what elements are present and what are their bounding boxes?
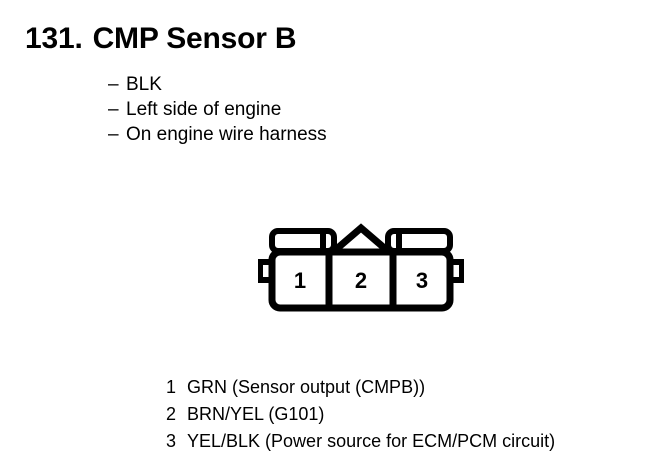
legend-row: 2 BRN/YEL (G101) — [166, 401, 555, 428]
description-list: – BLK – Left side of engine – On engine … — [108, 72, 327, 147]
list-item: – Left side of engine — [108, 97, 327, 122]
page-title-number: 131. — [25, 22, 83, 55]
legend-pin-number: 2 — [166, 401, 187, 428]
list-item-label: On engine wire harness — [126, 122, 327, 147]
legend-pin-description: YEL/BLK (Power source for ECM/PCM circui… — [187, 428, 555, 455]
legend-pin-number: 3 — [166, 428, 187, 455]
legend-row: 3 YEL/BLK (Power source for ECM/PCM circ… — [166, 428, 555, 455]
legend-row: 1 GRN (Sensor output (CMPB)) — [166, 374, 555, 401]
list-item-label: Left side of engine — [126, 97, 281, 122]
right-tab-slot — [396, 233, 402, 248]
connector-illustration: 1 2 3 — [258, 222, 464, 314]
document-page: 131.CMP Sensor B – BLK – Left side of en… — [0, 0, 672, 474]
list-item-label: BLK — [126, 72, 162, 97]
page-title-text: CMP Sensor B — [93, 22, 297, 55]
legend-pin-description: BRN/YEL (G101) — [187, 401, 324, 428]
list-item: – BLK — [108, 72, 327, 97]
connector-diagram: 1 2 3 — [258, 222, 464, 314]
list-item: – On engine wire harness — [108, 122, 327, 147]
legend-pin-number: 1 — [166, 374, 187, 401]
dash-icon: – — [108, 122, 126, 147]
terminal-number-2: 2 — [355, 268, 367, 293]
page-title: 131.CMP Sensor B — [25, 22, 296, 55]
dash-icon: – — [108, 97, 126, 122]
terminal-number-3: 3 — [416, 268, 428, 293]
pin-legend: 1 GRN (Sensor output (CMPB)) 2 BRN/YEL (… — [166, 374, 555, 455]
terminal-number-1: 1 — [294, 268, 306, 293]
legend-pin-description: GRN (Sensor output (CMPB)) — [187, 374, 425, 401]
dash-icon: – — [108, 72, 126, 97]
left-tab-slot — [320, 233, 326, 248]
